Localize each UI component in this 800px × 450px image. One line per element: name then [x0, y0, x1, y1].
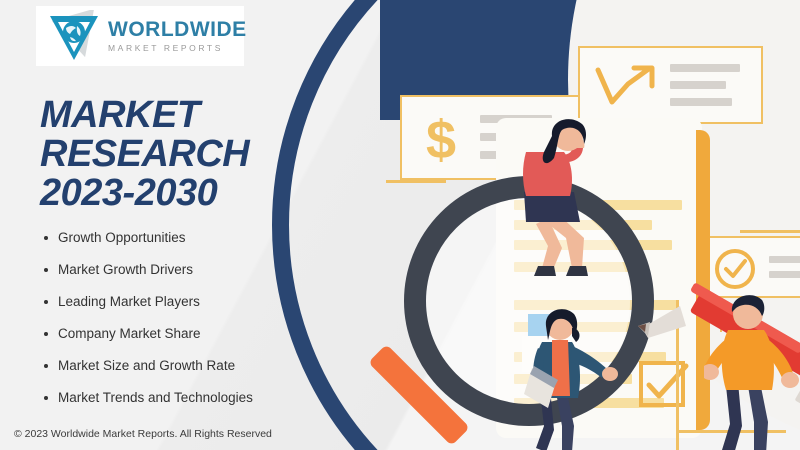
page-title-line2: RESEARCH: [40, 135, 340, 174]
page-title: MARKET RESEARCH 2023-2030: [40, 96, 340, 213]
growth-card-line: [670, 98, 732, 106]
check-circle-icon: [711, 245, 759, 293]
brand-tagline: MARKET REPORTS: [108, 44, 247, 53]
brand-name: WORLDWIDE: [108, 19, 247, 40]
feature-list: Growth Opportunities Market Growth Drive…: [42, 230, 362, 422]
page-title-line1: MARKET: [40, 96, 340, 135]
check-card-topbar: [740, 230, 800, 233]
trend-arrow-up-icon: [594, 62, 660, 114]
brand-logo[interactable]: WORLDWIDE MARKET REPORTS: [36, 6, 244, 66]
growth-card-line: [670, 81, 726, 89]
globe-triangle-icon: [46, 10, 102, 62]
growth-card: [578, 46, 763, 124]
man-holding-pencil: [704, 290, 800, 450]
checkbox-check-icon: [636, 358, 694, 416]
copyright-notice: © 2023 Worldwide Market Reports. All Rig…: [14, 428, 272, 440]
market-research-banner: $: [0, 0, 800, 450]
page-title-line3: 2023-2030: [40, 174, 340, 213]
check-card-line: [769, 256, 800, 263]
growth-card-line: [670, 64, 740, 72]
pencil-tip-icon: [634, 292, 704, 352]
list-item: Leading Market Players: [42, 294, 362, 309]
check-card: [695, 236, 800, 298]
list-item: Market Trends and Technologies: [42, 390, 362, 405]
check-card-line: [769, 271, 800, 278]
list-item: Market Size and Growth Rate: [42, 358, 362, 373]
list-item: Market Growth Drivers: [42, 262, 362, 277]
brand-logo-text: WORLDWIDE MARKET REPORTS: [108, 19, 247, 53]
list-item: Company Market Share: [42, 326, 362, 341]
list-item: Growth Opportunities: [42, 230, 362, 245]
